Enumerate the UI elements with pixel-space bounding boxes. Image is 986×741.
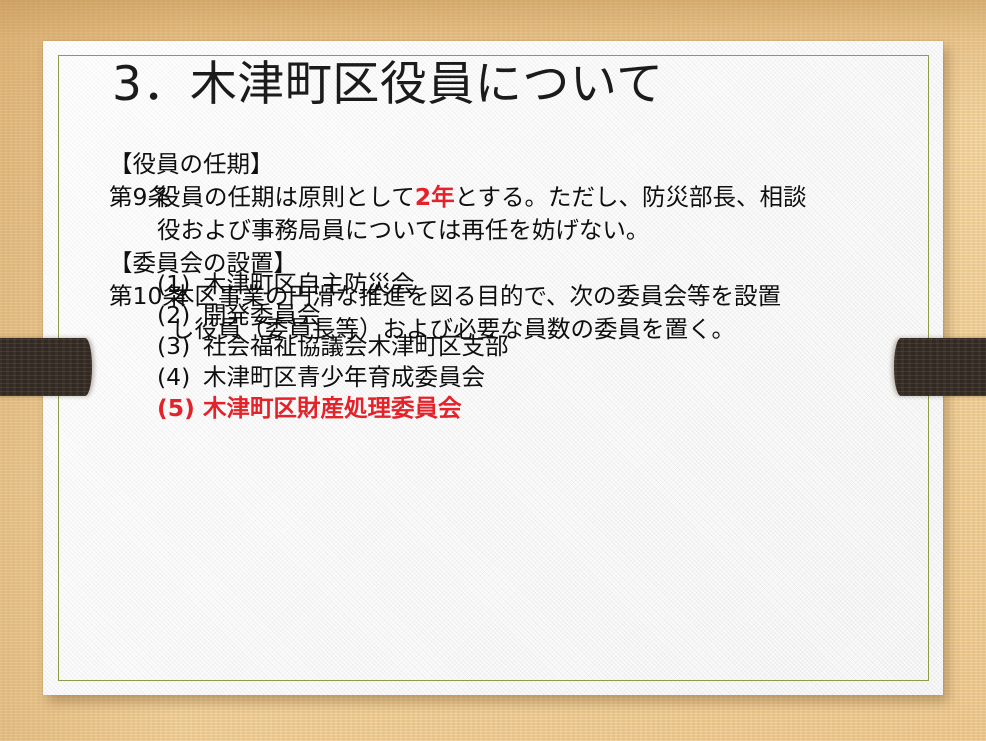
list-item: (1) 木津町区自主防災会 <box>157 269 509 300</box>
list-item: (4) 木津町区青少年育成委員会 <box>157 362 509 393</box>
slide-content: 3．木津町区役員について 【役員の任期】 第9条 役員の任期は原則として2年とす… <box>43 41 943 695</box>
article-9-text-part2: とする。ただし、防災部長、相談 <box>455 183 807 211</box>
list-item-label: 木津町区自主防災会 <box>203 269 415 300</box>
section-heading-tenure: 【役員の任期】 <box>109 148 909 181</box>
article-9-continuation: 役および事務局員については再任を妨げない。 <box>157 214 909 247</box>
decorative-band-left <box>0 338 92 396</box>
list-item-label: 木津町区青少年育成委員会 <box>203 362 485 393</box>
list-item-number: (1) <box>157 269 203 300</box>
article-9-term-highlight: 2年 <box>415 183 455 211</box>
list-item: (5) 木津町区財産処理委員会 <box>157 393 509 424</box>
article-9-label: 第9条 <box>109 181 157 214</box>
list-item-number: (5) <box>157 393 203 424</box>
committee-list: (1) 木津町区自主防災会 (2) 開発委員会 (3) 社会福祉協議会木津町区支… <box>157 269 509 424</box>
slide-card: 3．木津町区役員について 【役員の任期】 第9条 役員の任期は原則として2年とす… <box>43 41 943 695</box>
list-item: (3) 社会福祉協議会木津町区支部 <box>157 331 509 362</box>
slide-title: 3．木津町区役員について <box>112 59 664 112</box>
list-item-label: 木津町区財産処理委員会 <box>203 393 462 424</box>
article-9-text-part1: 役員の任期は原則として <box>157 183 415 211</box>
list-item-label: 開発委員会 <box>203 300 321 331</box>
list-item-label: 社会福祉協議会木津町区支部 <box>203 331 509 362</box>
list-item-number: (4) <box>157 362 203 393</box>
list-item-number: (3) <box>157 331 203 362</box>
slide-stage: 3．木津町区役員について 【役員の任期】 第9条 役員の任期は原則として2年とす… <box>0 0 986 741</box>
article-9: 第9条 役員の任期は原則として2年とする。ただし、防災部長、相談 役および事務局… <box>109 181 909 247</box>
list-item: (2) 開発委員会 <box>157 300 509 331</box>
decorative-band-right <box>894 338 986 396</box>
list-item-number: (2) <box>157 300 203 331</box>
article-9-body: 役員の任期は原則として2年とする。ただし、防災部長、相談 役および事務局員につい… <box>157 181 909 247</box>
